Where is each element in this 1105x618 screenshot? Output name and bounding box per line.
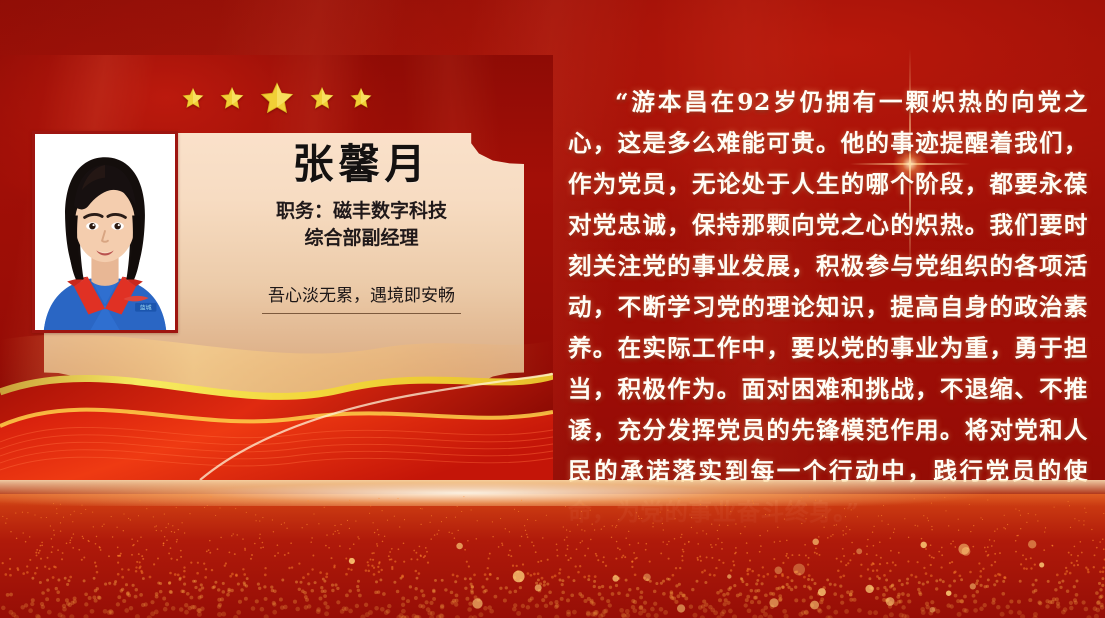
quote-text: “游本昌在92岁仍拥有一颗炽热的向党之心，这是多么难能可贵。他的事迹提醒着我们，… (568, 82, 1088, 533)
ribbon-decoration (0, 330, 553, 480)
person-motto-wrapper: 吾心淡无累，遇境即安畅 (196, 281, 527, 314)
star-icon (350, 87, 372, 109)
star-icon (220, 86, 244, 110)
person-role-line1: 职务：磁丰数字科技 (196, 198, 527, 224)
particle-field (0, 480, 1105, 618)
star-icon (310, 86, 334, 110)
bottom-glow-band (0, 480, 1105, 618)
portrait-photo: 蓝城 (35, 134, 175, 330)
person-role-line2: 综合部副经理 (196, 225, 527, 251)
slide-stage: 蓝城 张馨月 职务：磁丰数字科技 综合部副经理 吾心淡无累，遇境即安畅 (0, 0, 1105, 618)
person-role: 职务：磁丰数字科技 综合部副经理 (196, 198, 527, 250)
star-icon (260, 81, 294, 115)
person-motto: 吾心淡无累，遇境即安畅 (262, 281, 461, 314)
person-name: 张馨月 (196, 143, 527, 186)
svg-text:蓝城: 蓝城 (140, 304, 152, 312)
profile-panel: 蓝城 张馨月 职务：磁丰数字科技 综合部副经理 吾心淡无累，遇境即安畅 (0, 55, 553, 480)
star-icon (182, 87, 204, 109)
profile-text-block: 张馨月 职务：磁丰数字科技 综合部副经理 吾心淡无累，遇境即安畅 (196, 143, 527, 314)
avatar: 蓝城 (32, 131, 178, 333)
star-rating-row (0, 81, 553, 115)
